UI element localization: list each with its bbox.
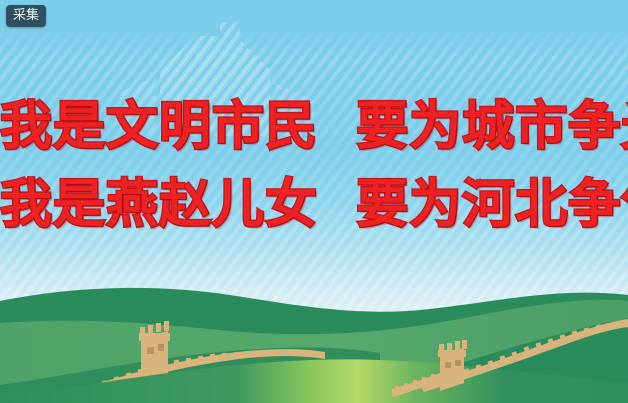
banner-screen: 我是文明市民 要为城市争光 我是燕赵儿女 要为河北争气 xyxy=(0,0,628,403)
capture-button[interactable]: 采集 xyxy=(6,5,46,27)
headline-block: 我是文明市民 要为城市争光 我是燕赵儿女 要为河北争气 xyxy=(0,88,628,244)
headline-line-1: 我是文明市民 要为城市争光 xyxy=(0,88,628,166)
headline-line-2: 我是燕赵儿女 要为河北争气 xyxy=(0,166,628,244)
landscape-illustration xyxy=(0,273,628,403)
